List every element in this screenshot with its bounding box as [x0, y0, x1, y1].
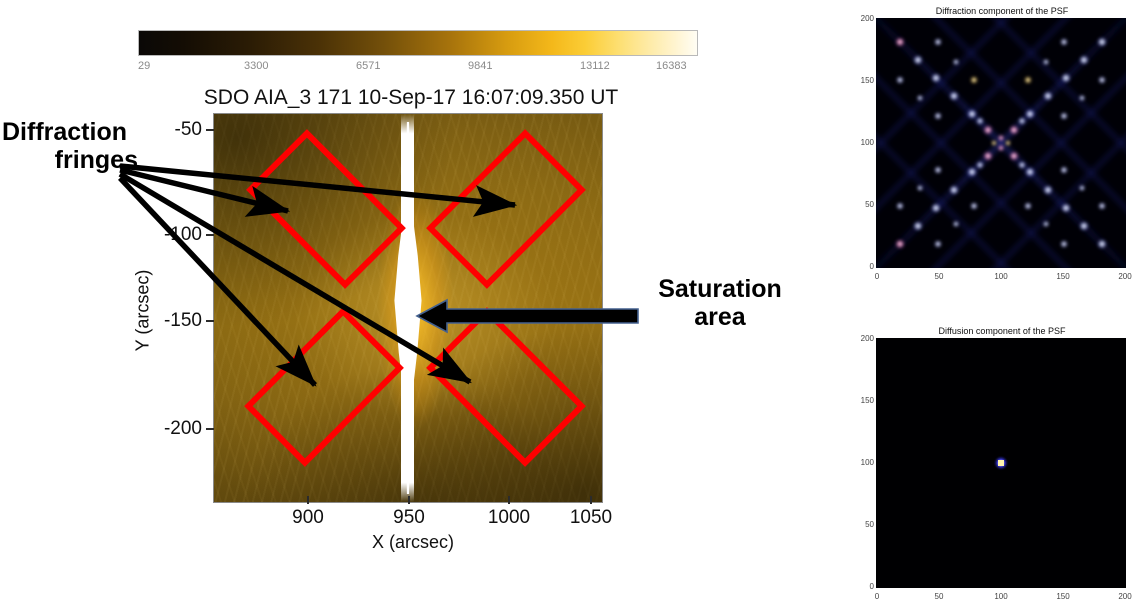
psf1-ytick-150: 150: [856, 76, 874, 85]
psf-panel-diffusion: Diffusion component of the PSF 200 150 1…: [860, 322, 1144, 611]
x-axis-label: X (arcsec): [313, 532, 513, 553]
ytick-label-3: -200: [144, 418, 202, 440]
ytick-mark-50: [206, 129, 214, 131]
saturation-area-label-line1: Saturation: [640, 275, 800, 303]
ytick-mark-200: [206, 428, 214, 430]
colorbar-tick-1: 3300: [244, 60, 268, 72]
psf1-xtick-50: 50: [930, 272, 948, 281]
xtick-mark-1000: [508, 496, 510, 504]
psf-diffraction-canvas: [876, 18, 1126, 268]
colorbar-tick-5: 16383: [656, 60, 687, 72]
xtick-label-2: 1000: [473, 507, 545, 529]
ytick-mark-100: [206, 234, 214, 236]
colorbar: 29 3300 6571 9841 13112 16383: [138, 30, 698, 82]
psf1-xtick-0: 0: [868, 272, 886, 281]
psf-diffusion-title: Diffusion component of the PSF: [860, 326, 1144, 336]
figure-root: 29 3300 6571 9841 13112 16383 SDO AIA_3 …: [0, 0, 1144, 611]
psf1-ytick-50: 50: [856, 200, 874, 209]
psf1-ytick-0: 0: [856, 262, 874, 271]
colorbar-tick-4: 13112: [580, 60, 610, 72]
xtick-mark-950: [408, 496, 410, 504]
psf2-xtick-50: 50: [930, 592, 948, 601]
psf-diffusion-canvas: [876, 338, 1126, 588]
psf2-ytick-100: 100: [856, 458, 874, 467]
colorbar-tick-0: 29: [138, 60, 150, 72]
psf2-xtick-100: 100: [992, 592, 1010, 601]
xtick-label-1: 950: [373, 507, 445, 529]
xtick-label-0: 900: [272, 507, 344, 529]
psf2-ytick-150: 150: [856, 396, 874, 405]
psf-panel-diffraction: Diffraction component of the PSF: [860, 2, 1144, 292]
psf1-xtick-100: 100: [992, 272, 1010, 281]
colorbar-tick-2: 6571: [356, 60, 380, 72]
xtick-mark-900: [307, 496, 309, 504]
psf2-ytick-200: 200: [856, 334, 874, 343]
psf1-xtick-200: 200: [1116, 272, 1134, 281]
psf2-xtick-0: 0: [868, 592, 886, 601]
ytick-label-0: -50: [150, 119, 202, 141]
colorbar-gradient: [138, 30, 698, 56]
xtick-label-3: 1050: [555, 507, 627, 529]
psf1-xtick-150: 150: [1054, 272, 1072, 281]
diffraction-fringes-label-line1: Diffraction: [2, 118, 142, 146]
xtick-mark-1050: [590, 496, 592, 504]
psf-diffraction-title: Diffraction component of the PSF: [860, 6, 1144, 16]
ytick-label-1: -100: [144, 224, 202, 246]
psf1-ytick-100: 100: [856, 138, 874, 147]
psf2-xtick-200: 200: [1116, 592, 1134, 601]
saturation-bleed-core: [401, 114, 413, 502]
psf2-ytick-0: 0: [856, 582, 874, 591]
ytick-mark-150: [206, 320, 214, 322]
diffraction-fringes-label-line2: fringes: [2, 146, 142, 174]
solar-image-title: SDO AIA_3 171 10-Sep-17 16:07:09.350 UT: [196, 86, 626, 110]
psf-diffraction-image: [876, 18, 1126, 268]
psf1-ytick-200: 200: [856, 14, 874, 23]
psf2-xtick-150: 150: [1054, 592, 1072, 601]
diffraction-fringes-label: Diffraction fringes: [2, 118, 142, 174]
psf2-ytick-50: 50: [856, 520, 874, 529]
solar-image-plot: [213, 113, 603, 503]
colorbar-tick-3: 9841: [468, 60, 492, 72]
psf-diffusion-image: [876, 338, 1126, 588]
saturation-area-label: Saturation area: [640, 275, 800, 331]
saturation-area-label-line2: area: [640, 303, 800, 331]
y-axis-label: Y (arcsec): [133, 256, 154, 366]
